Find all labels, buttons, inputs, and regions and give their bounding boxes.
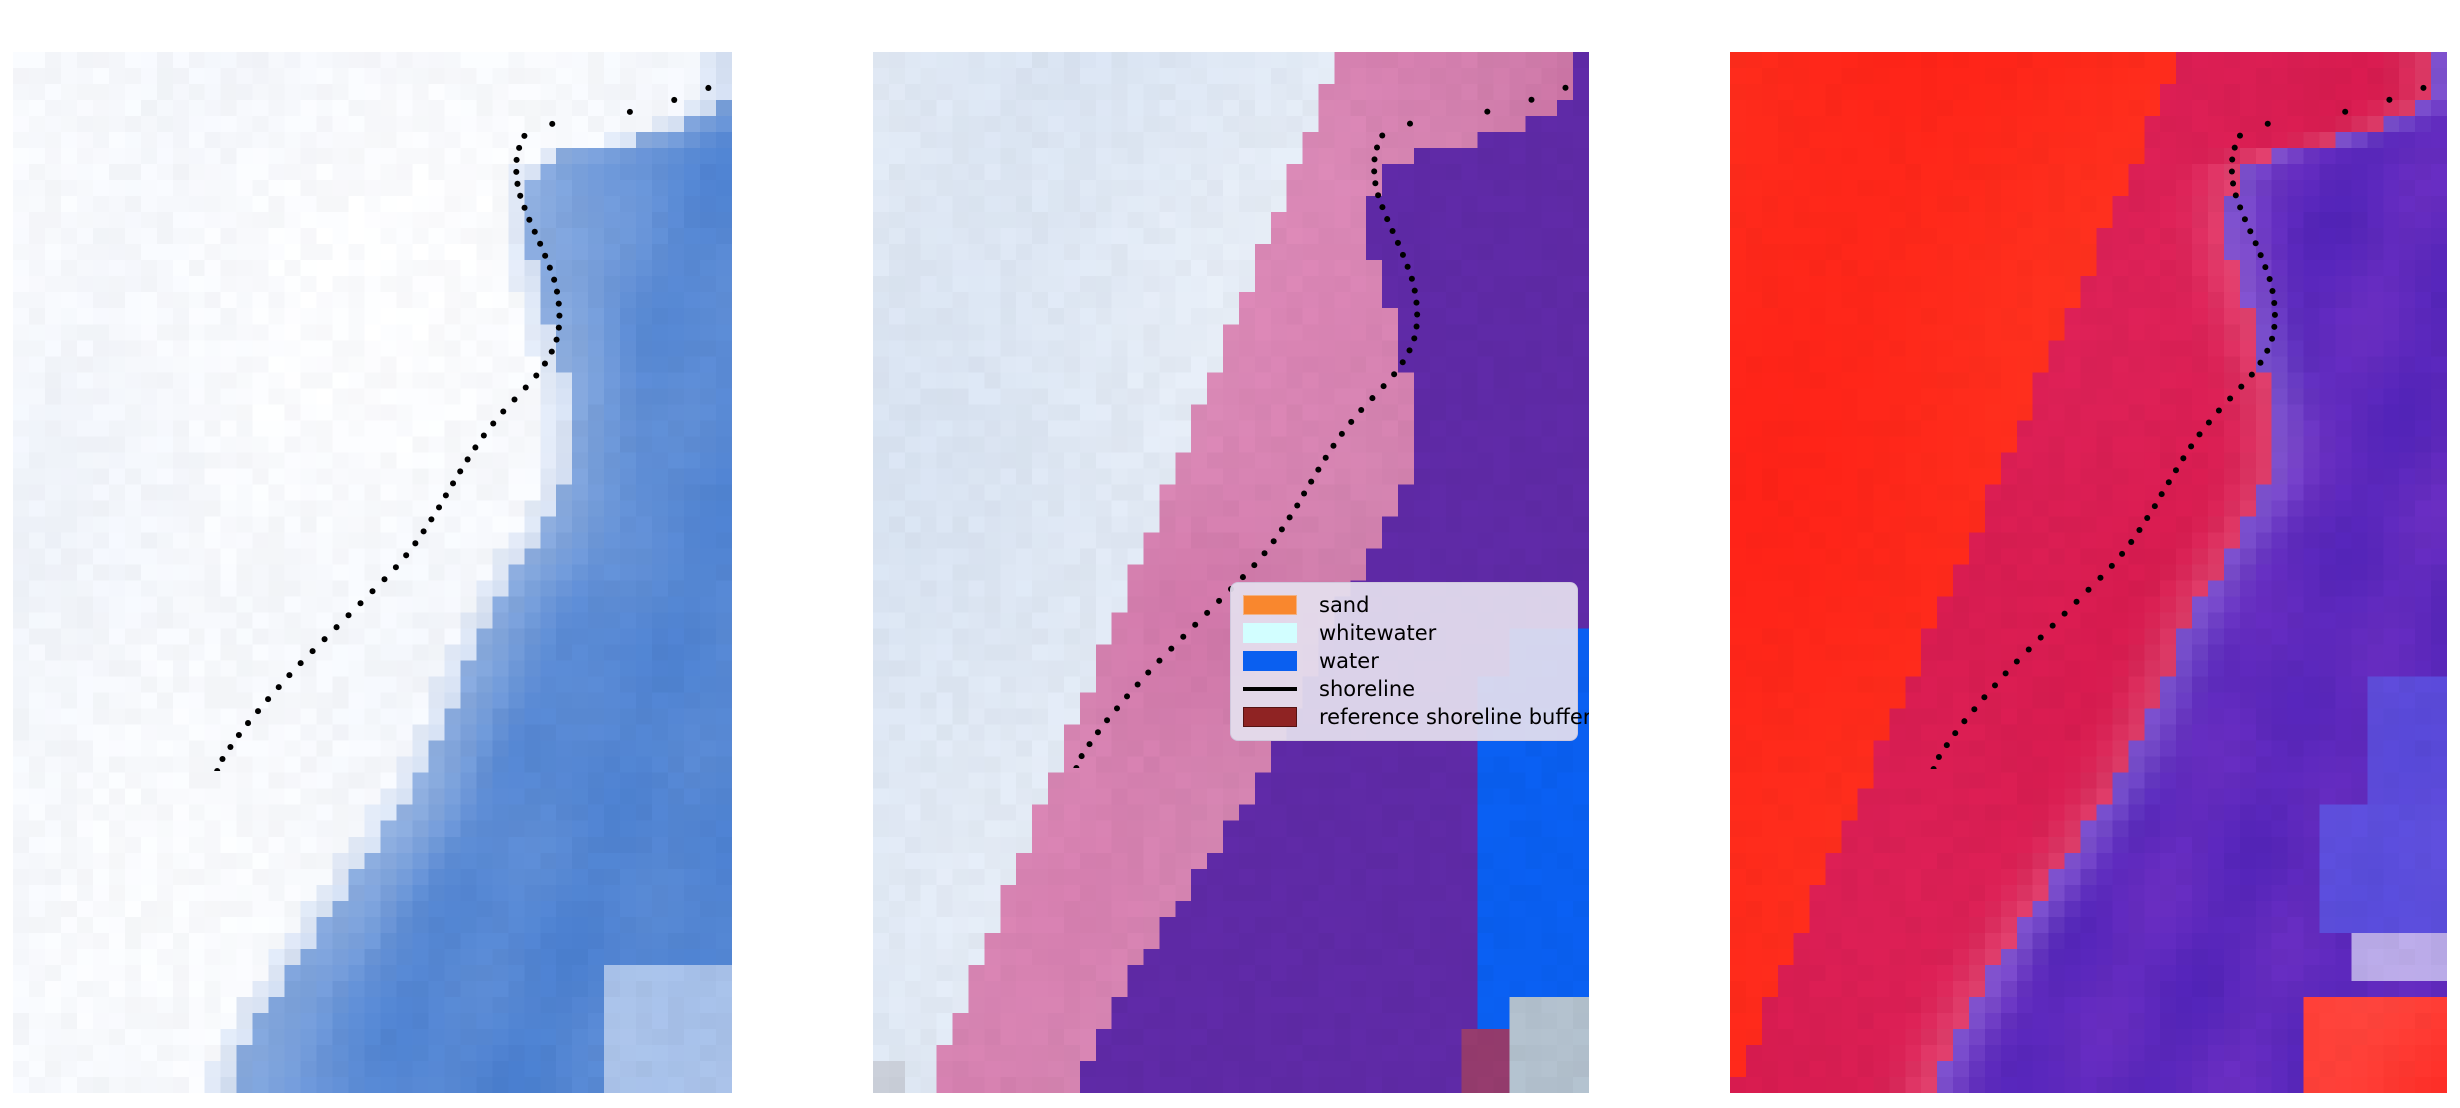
legend-swatch-reference-buffer (1243, 707, 1297, 727)
panel-classified: 2005-05-09-09-47-12 sand whitewater wate… (873, 52, 1589, 1093)
legend-swatch-sand (1243, 595, 1297, 615)
sar-image (13, 52, 732, 1093)
legend-item-shoreline: shoreline (1243, 678, 1565, 700)
legend-label-reference-buffer: reference shoreline buffer (1319, 706, 1589, 728)
panel-sar: sar2379 (13, 52, 732, 1093)
legend-item-water: water (1243, 650, 1565, 672)
legend-swatch-water (1243, 651, 1297, 671)
classified-image (873, 52, 1589, 1093)
panel-l5: L5 (1730, 52, 2447, 1093)
legend-item-sand: sand (1243, 594, 1565, 616)
legend-item-whitewater: whitewater (1243, 622, 1565, 644)
legend-swatch-shoreline (1243, 687, 1297, 691)
legend-label-water: water (1319, 650, 1379, 672)
legend-item-reference-buffer: reference shoreline buffer (1243, 706, 1565, 728)
legend-box: sand whitewater water shoreline referenc… (1230, 582, 1578, 741)
l5-image (1730, 52, 2447, 1093)
legend-label-shoreline: shoreline (1319, 678, 1415, 700)
legend-swatch-whitewater (1243, 623, 1297, 643)
legend-label-whitewater: whitewater (1319, 622, 1436, 644)
figure-root: sar2379 2005-05-09-09-47-12 sand whitewa… (0, 0, 2460, 1108)
legend-label-sand: sand (1319, 594, 1369, 616)
